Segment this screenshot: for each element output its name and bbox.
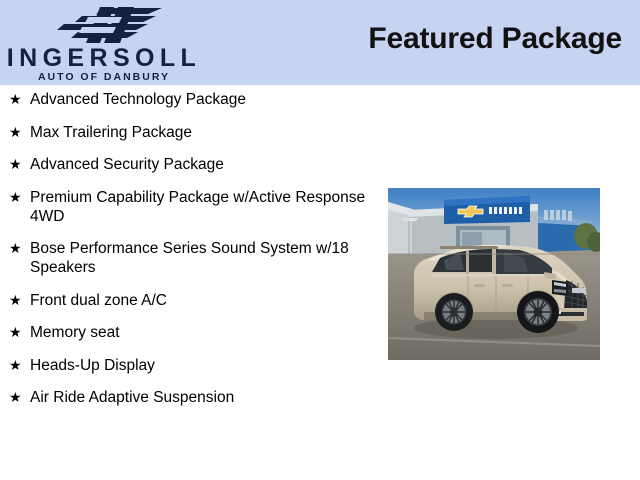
feature-list: ★ Advanced Technology Package ★ Max Trai… — [8, 90, 368, 421]
ingersoll-winged-emblem-icon — [44, 5, 168, 45]
gmc-yukon-xl-denali-photo — [388, 188, 600, 360]
list-item-label: Advanced Security Package — [30, 156, 224, 173]
star-bullet-icon: ★ — [9, 323, 22, 342]
list-item: ★ Bose Performance Series Sound System w… — [8, 239, 368, 277]
list-item: ★ Advanced Technology Package — [8, 90, 368, 109]
list-item-label: Max Trailering Package — [30, 124, 192, 141]
star-bullet-icon: ★ — [9, 90, 22, 109]
list-item: ★ Memory seat — [8, 323, 368, 342]
star-bullet-icon: ★ — [9, 123, 22, 142]
list-item-label: Memory seat — [30, 324, 120, 341]
star-bullet-icon: ★ — [9, 188, 22, 207]
list-item-label: Front dual zone A/C — [30, 292, 167, 309]
list-item-label: Air Ride Adaptive Suspension — [30, 389, 234, 406]
star-bullet-icon: ★ — [9, 388, 22, 407]
logo-wordmark: INGERSOLL — [0, 46, 208, 71]
list-item: ★ Advanced Security Package — [8, 155, 368, 174]
list-item: ★ Front dual zone A/C — [8, 291, 368, 310]
list-item: ★ Air Ride Adaptive Suspension — [8, 388, 368, 407]
list-item: ★ Max Trailering Package — [8, 123, 368, 142]
dealer-logo: INGERSOLL AUTO OF DANBURY — [0, 2, 208, 84]
list-item-label: Advanced Technology Package — [30, 91, 246, 108]
list-item: ★ Premium Capability Package w/Active Re… — [8, 188, 368, 226]
page-title: Featured Package — [368, 22, 622, 56]
star-bullet-icon: ★ — [9, 155, 22, 174]
page-header: INGERSOLL AUTO OF DANBURY Featured Packa… — [0, 0, 640, 85]
list-item: ★ Heads-Up Display — [8, 356, 368, 375]
list-item-label: Heads-Up Display — [30, 357, 155, 374]
list-item-label: Premium Capability Package w/Active Resp… — [30, 189, 365, 225]
star-bullet-icon: ★ — [9, 356, 22, 375]
logo-subwordmark: AUTO OF DANBURY — [0, 72, 208, 83]
list-item-label: Bose Performance Series Sound System w/1… — [30, 240, 349, 276]
star-bullet-icon: ★ — [9, 239, 22, 258]
star-bullet-icon: ★ — [9, 291, 22, 310]
